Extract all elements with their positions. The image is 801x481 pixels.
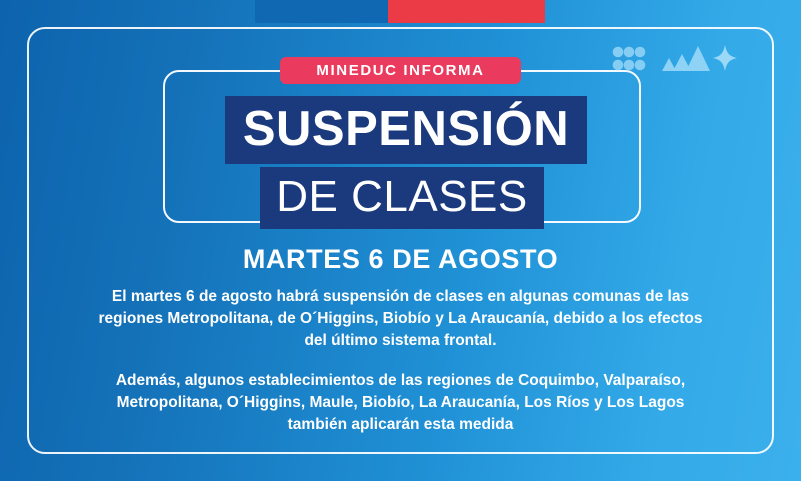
- mineduc-informa-badge: MINEDUC INFORMA: [280, 57, 521, 84]
- paragraph-secondary: Además, algunos establecimientos de las …: [88, 370, 713, 436]
- sparkle-icon: [713, 45, 737, 71]
- headline-line-2-row: DE CLASES: [163, 167, 641, 229]
- page-title-suspension: SUSPENSIÓN: [225, 96, 587, 164]
- date-label: MARTES 6 DE AGOSTO: [0, 244, 801, 275]
- headline-line-1-row: SUSPENSIÓN: [163, 96, 641, 164]
- decorative-cluster: [612, 44, 738, 80]
- mountains-icon: [662, 46, 710, 71]
- body-text-group: El martes 6 de agosto habrá suspensión d…: [88, 286, 713, 436]
- flag-bar-red: [388, 0, 545, 23]
- suspension-de-clases-poster: MINEDUC INFORMA SUSPENSIÓN DE CLASES MAR…: [0, 0, 801, 481]
- paragraph-primary: El martes 6 de agosto habrá suspensión d…: [88, 286, 713, 352]
- dots-grid-icon: [613, 47, 646, 71]
- flag-bar-blue: [255, 0, 388, 23]
- headline-group: SUSPENSIÓN DE CLASES: [163, 96, 641, 229]
- page-title-de-clases: DE CLASES: [260, 167, 543, 229]
